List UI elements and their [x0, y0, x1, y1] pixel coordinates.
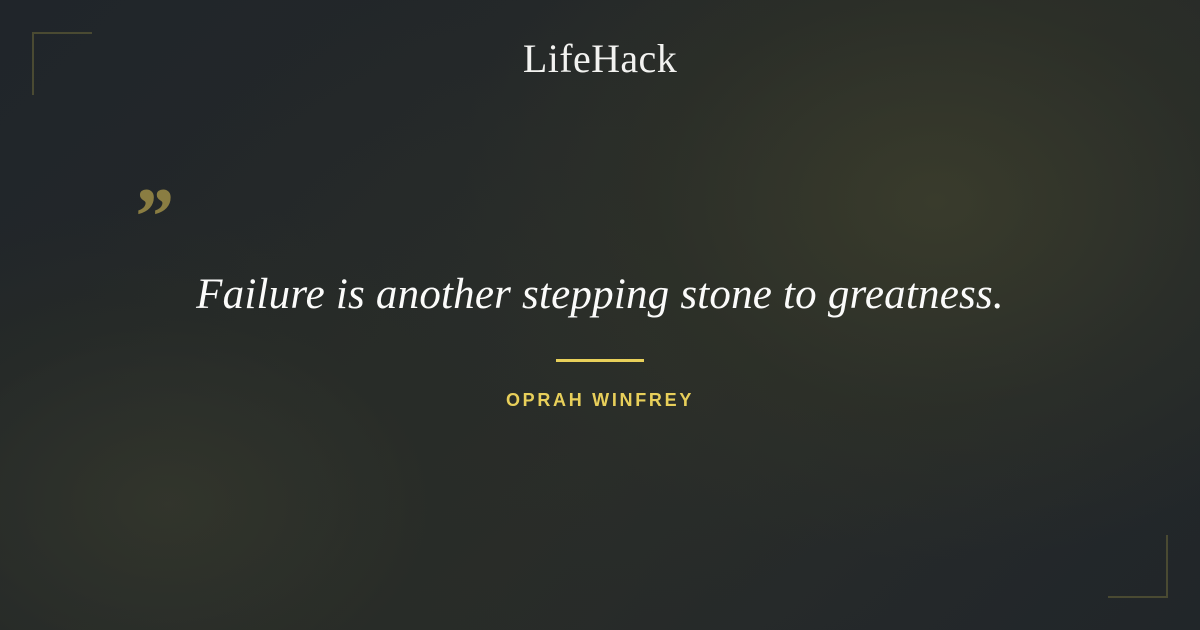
- quote-author: OPRAH WINFREY: [0, 390, 1200, 411]
- quote-card: LifeHack ” Failure is another stepping s…: [0, 0, 1200, 630]
- brand-logo: LifeHack: [0, 39, 1200, 79]
- quotation-mark-icon: ”: [131, 176, 172, 258]
- quote-text: Failure is another stepping stone to gre…: [100, 268, 1100, 322]
- divider-rule: [556, 359, 644, 362]
- corner-bracket-bottom-right: [1108, 535, 1168, 598]
